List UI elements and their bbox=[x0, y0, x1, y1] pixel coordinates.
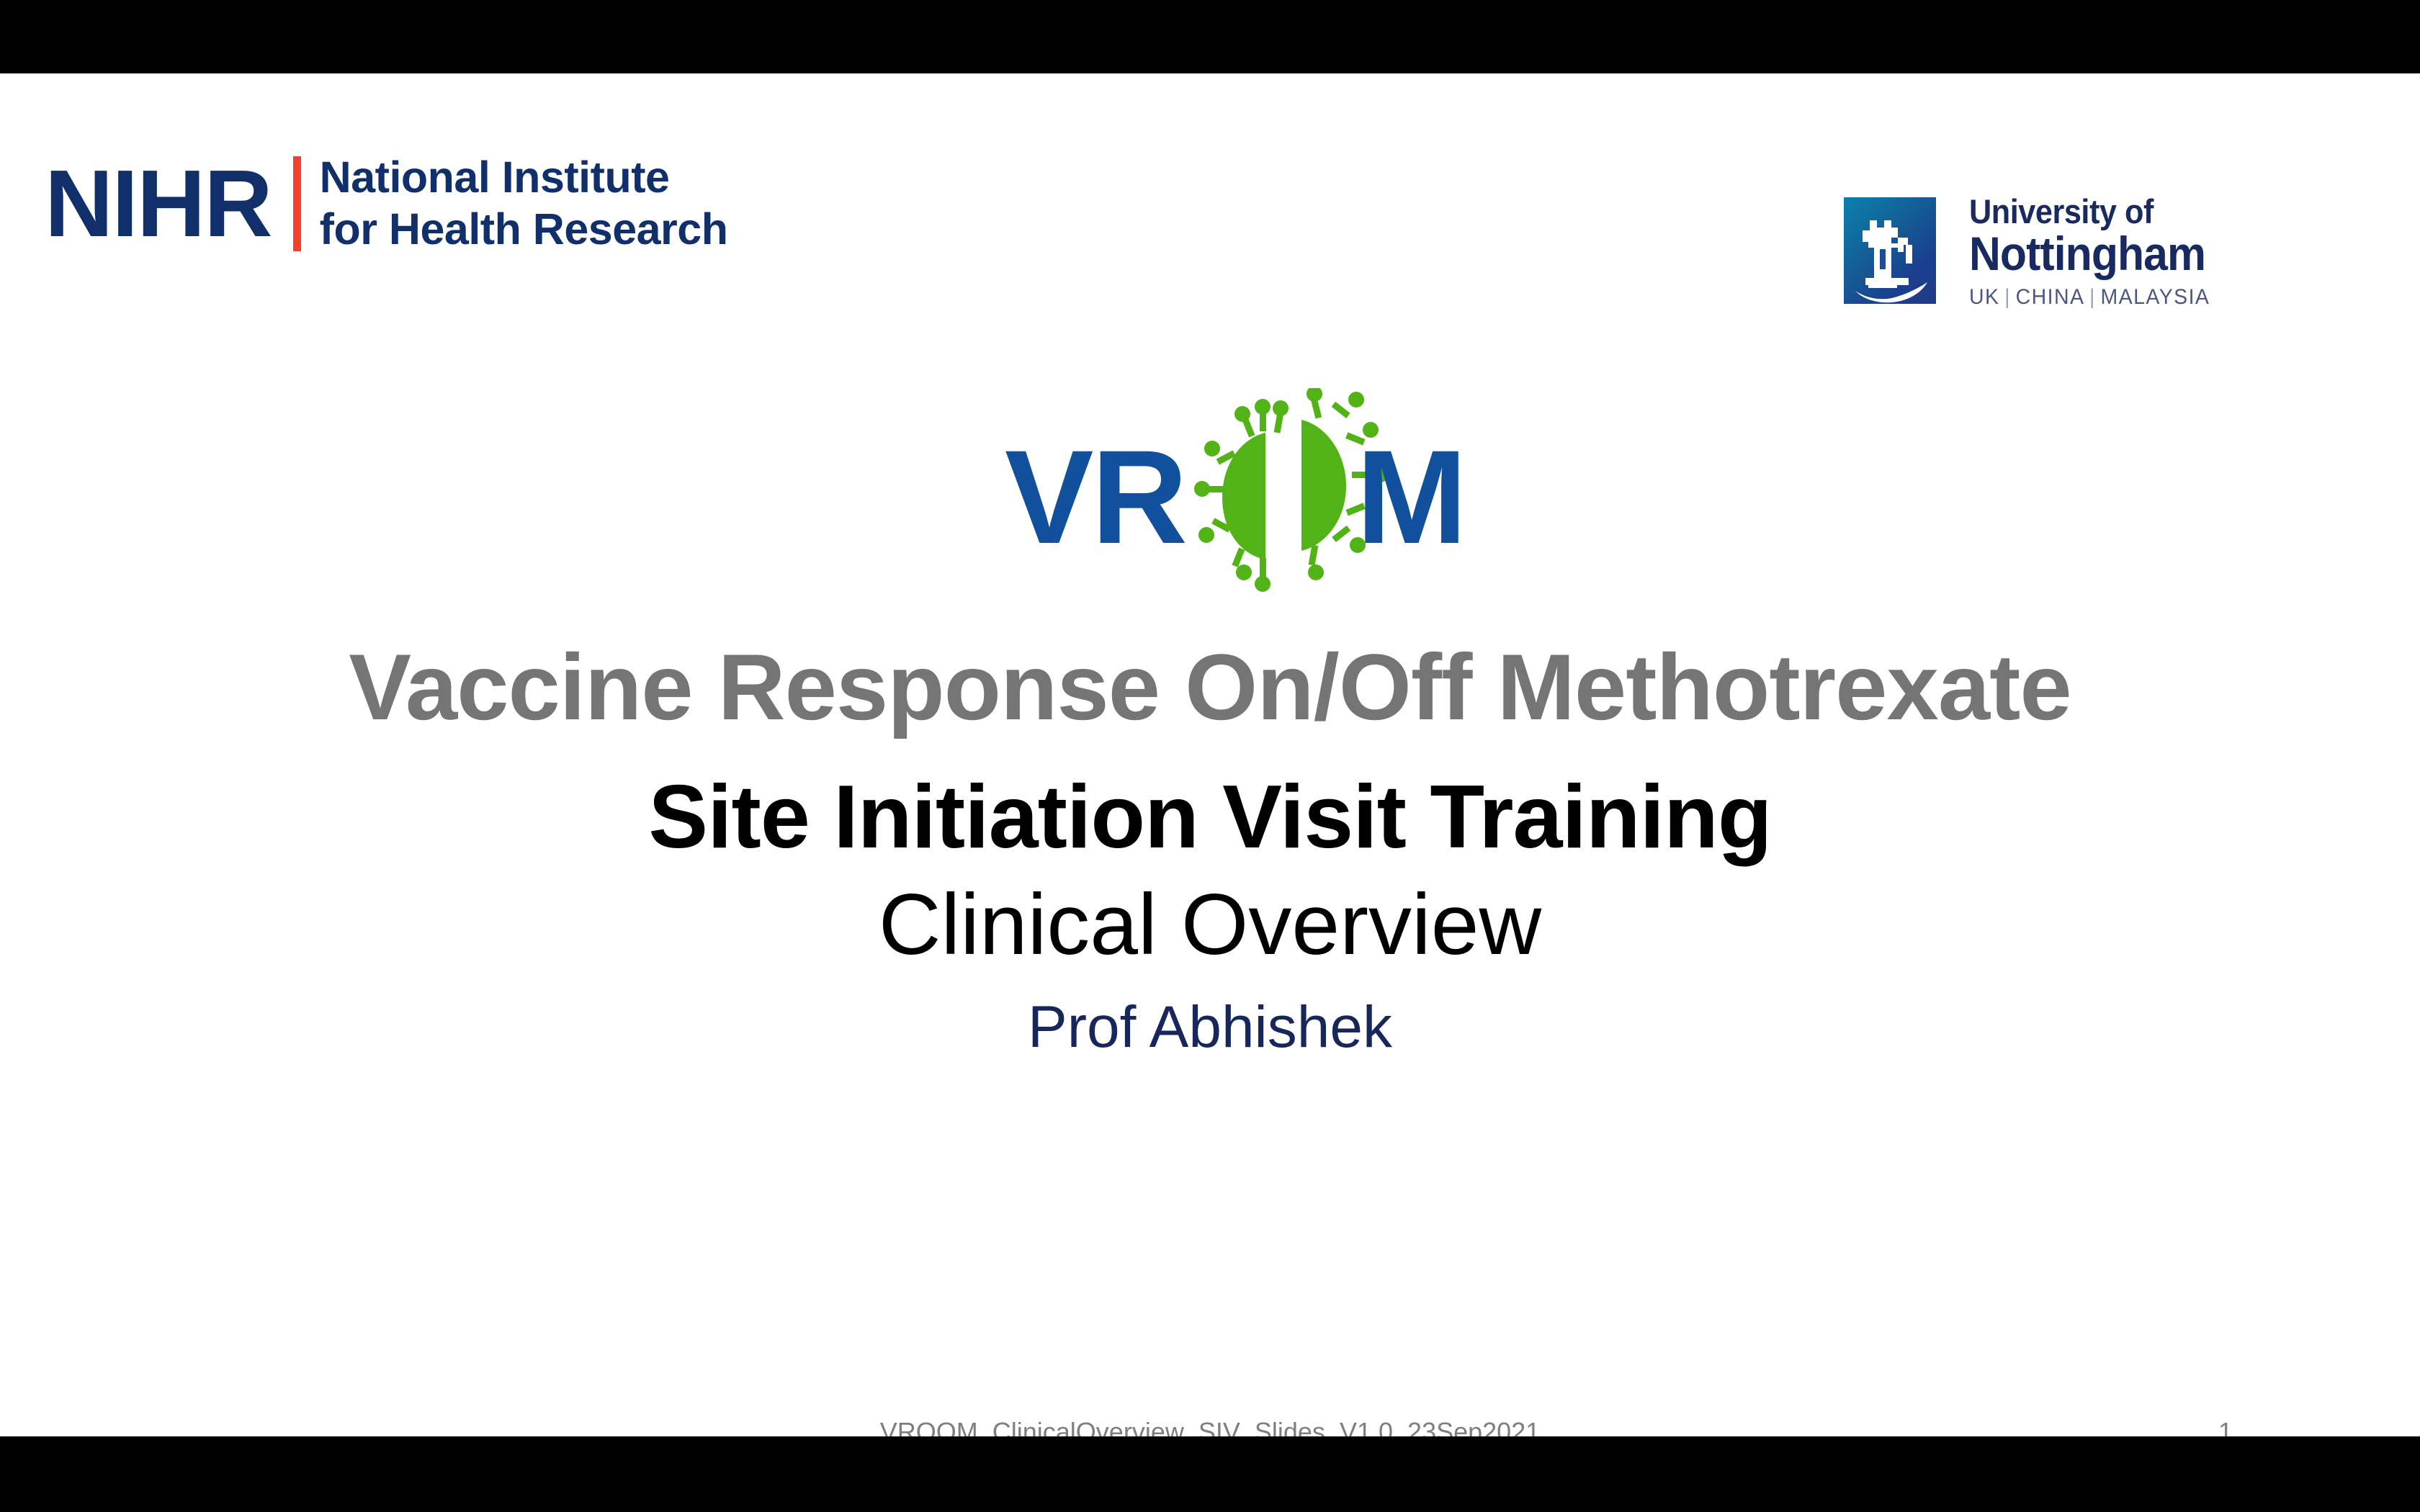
nihr-divider-bar bbox=[293, 156, 301, 251]
tagline-uk: UK bbox=[1969, 285, 1999, 309]
slide-canvas: NIHR National Institute for Health Resea… bbox=[0, 73, 2420, 1436]
tagline-malaysia: MALAYSIA bbox=[2101, 285, 2210, 309]
nihr-strapline: National Institute for Health Research bbox=[320, 152, 728, 256]
nihr-wordmark: NIHR bbox=[45, 156, 272, 251]
subtitle-training: Site Initiation Visit Training bbox=[0, 765, 2420, 870]
vroom-letters-left: VR bbox=[1005, 431, 1186, 564]
letterbox-bar-top bbox=[0, 0, 2420, 73]
nihr-logo: NIHR National Institute for Health Resea… bbox=[45, 150, 727, 258]
page-title: Vaccine Response On/Off Methotrexate bbox=[0, 635, 2420, 740]
vroom-letters-right: M bbox=[1356, 431, 1465, 564]
nihr-strapline-line1: National Institute bbox=[320, 152, 728, 204]
tagline-separator: | bbox=[2084, 285, 2100, 309]
vroom-study-logo: VR bbox=[1005, 401, 1494, 603]
university-of-nottingham-logo: University of Nottingham UK|CHINA|MALAYS… bbox=[1844, 197, 2226, 298]
castle-tower-icon bbox=[1844, 197, 1936, 304]
tagline-china: CHINA bbox=[2016, 285, 2085, 309]
presenter-name: Prof Abhishek bbox=[0, 992, 2420, 1063]
nottingham-line1: University of bbox=[1969, 194, 2205, 229]
title-block: Vaccine Response On/Off Methotrexate Sit… bbox=[0, 635, 2420, 1063]
nottingham-wordmark: University of Nottingham UK|CHINA|MALAYS… bbox=[1969, 194, 2226, 310]
nottingham-tagline: UK|CHINA|MALAYSIA bbox=[1969, 285, 2213, 310]
nihr-strapline-line2: for Health Research bbox=[320, 204, 728, 256]
letterbox-bar-bottom bbox=[0, 1436, 2420, 1512]
tagline-separator: | bbox=[1999, 285, 2015, 309]
nottingham-line2: Nottingham bbox=[1969, 229, 2205, 279]
presentation-slide: NIHR National Institute for Health Resea… bbox=[0, 0, 2420, 1512]
subtitle-overview: Clinical Overview bbox=[0, 874, 2420, 976]
